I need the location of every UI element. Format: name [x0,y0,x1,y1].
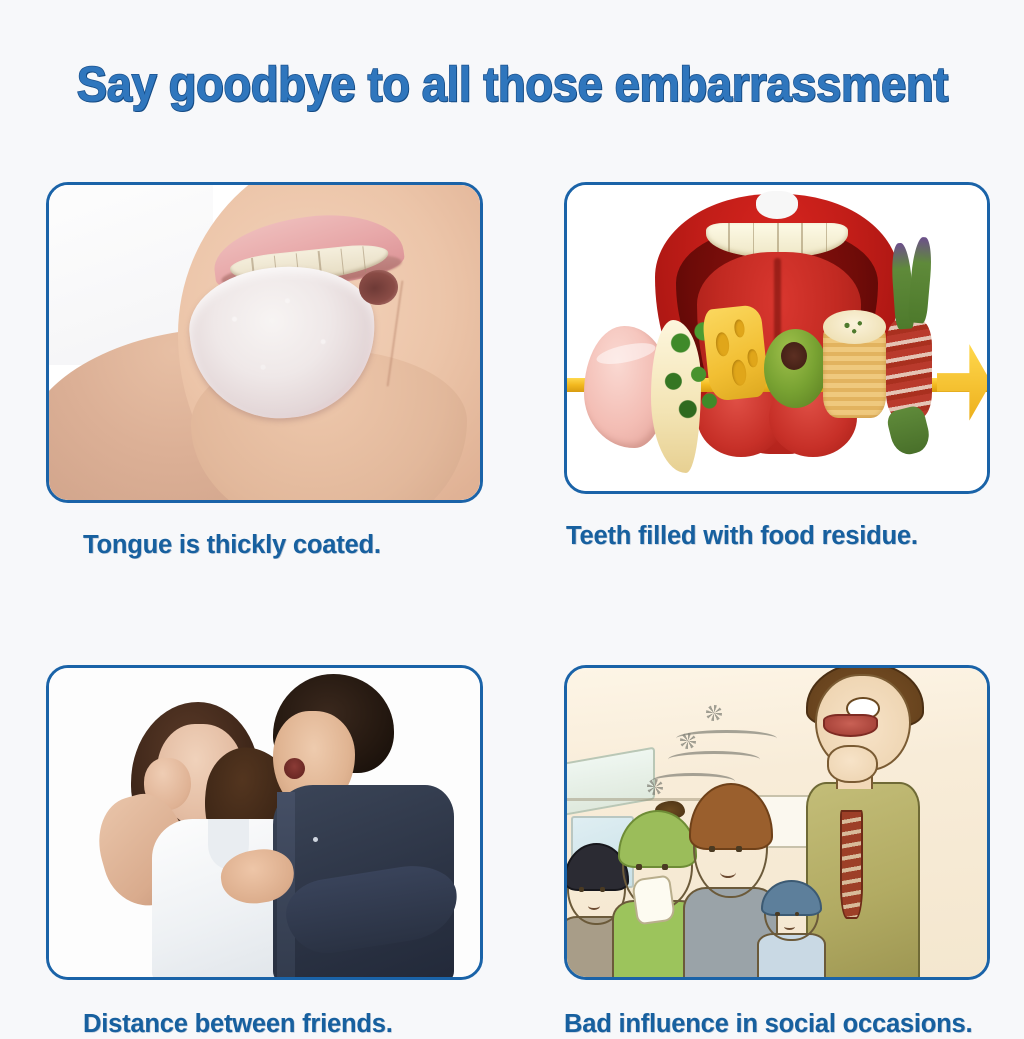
card-image-frame-food [564,182,990,494]
card-caption-office: Bad influence in social occasions. [564,1010,990,1039]
stink-sparkle-icon [647,779,663,795]
bystander-4 [764,887,814,980]
card-image-frame-tongue [46,182,483,503]
card-social-occasions: Bad influence in social occasions. [564,665,990,1039]
stink-sparkle-icon [706,705,722,721]
open-mouth-icon [823,714,877,737]
stink-sparkle-icon [680,733,696,749]
necktie-icon [840,810,863,919]
tongue-photo-illustration [49,185,480,500]
couple-photo-illustration [49,668,480,977]
mouth-food-skewer-illustration [567,185,987,491]
card-image-frame-office [564,665,990,980]
symptom-card-grid: Tongue is thickly coated. [46,182,990,1039]
page-title-container: Say goodbye to all those embarrassment [0,60,1024,111]
card-distance-friends: Distance between friends. [46,665,483,1039]
tissue-icon [631,875,676,926]
page-title: Say goodbye to all those embarrassment [76,60,947,111]
card-caption-couple: Distance between friends. [46,1010,483,1039]
cheese-icon [701,305,769,402]
card-tongue-coated: Tongue is thickly coated. [46,182,483,560]
card-caption-tongue: Tongue is thickly coated. [46,531,483,560]
card-caption-food: Teeth filled with food residue. [564,522,990,551]
card-food-residue: Teeth filled with food residue. [564,182,990,560]
bystander-2 [622,823,689,981]
bystander-3 [693,798,764,980]
card-image-frame-couple [46,665,483,980]
bacon-icon [886,320,932,418]
office-cartoon-illustration [567,668,987,977]
